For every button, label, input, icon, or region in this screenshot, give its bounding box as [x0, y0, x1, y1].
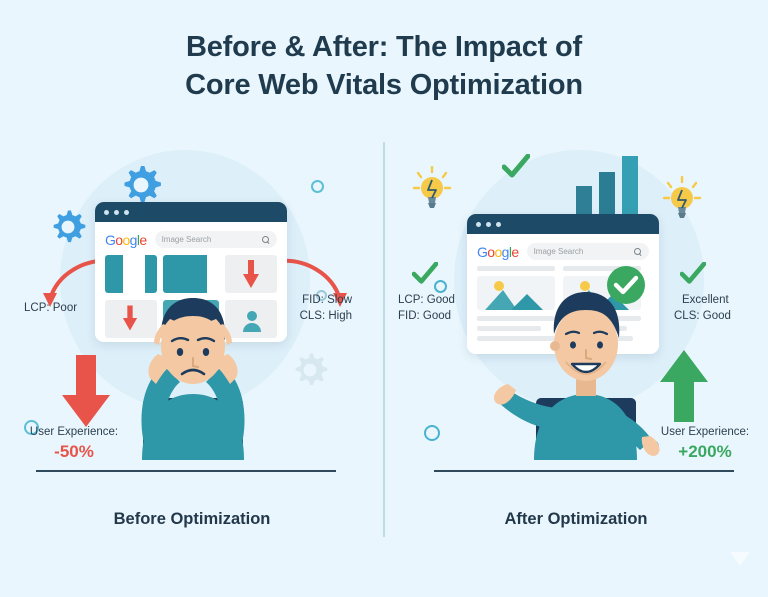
- title-line-2: Core Web Vitals Optimization: [0, 66, 768, 104]
- ground-line: [434, 470, 734, 472]
- metric-labels-fid-cls: FID: Slow CLS: High: [232, 292, 352, 325]
- ux-block-after: User Experience: +200%: [642, 424, 768, 464]
- search-row: Google Image Search: [105, 231, 277, 248]
- metric-labels-lcp-fid: LCP: Good FID: Good: [398, 292, 455, 325]
- gear-icon: [290, 350, 330, 390]
- ux-title: User Experience:: [642, 424, 768, 440]
- excellent-text: Excellent: [674, 292, 731, 308]
- logo-char-g: G: [105, 232, 115, 248]
- window-dot-green: [496, 222, 501, 227]
- ring-decoration: [424, 425, 440, 441]
- lightbulb-icon: [412, 166, 452, 212]
- metric-labels-excellent-cls: Excellent CLS: Good: [674, 292, 731, 325]
- window-dot-yellow: [114, 210, 119, 215]
- window-dot-red: [476, 222, 481, 227]
- corner-triangle-decoration: [730, 552, 750, 566]
- search-placeholder: Image Search: [162, 235, 212, 244]
- check-icon: [502, 154, 530, 180]
- check-icon: [680, 262, 706, 286]
- browser-titlebar: [467, 214, 659, 234]
- infographic-canvas: Before & After: The Impact of Core Web V…: [0, 0, 768, 597]
- logo-char-g: G: [477, 244, 487, 260]
- fid-text: FID: Slow: [232, 292, 352, 308]
- window-dot-yellow: [486, 222, 491, 227]
- before-caption: Before Optimization: [0, 510, 384, 529]
- cls-text: CLS: High: [232, 308, 352, 324]
- ux-title: User Experience:: [14, 424, 134, 440]
- bar-chart-icon: [572, 152, 644, 214]
- google-logo: Google: [105, 232, 147, 248]
- ground-line: [36, 470, 336, 472]
- window-dot-green: [124, 210, 129, 215]
- gear-icon: [48, 207, 88, 247]
- ring-decoration: [311, 180, 324, 193]
- search-icon[interactable]: [262, 236, 270, 244]
- title-line-1: Before & After: The Impact of: [0, 28, 768, 66]
- logo-char-o2: o: [122, 232, 129, 248]
- lcp-text: LCP: Poor: [24, 302, 77, 314]
- cls-text: CLS: Good: [674, 308, 731, 324]
- after-panel: Google Image Search: [384, 140, 768, 560]
- after-caption: After Optimization: [384, 510, 768, 529]
- logo-char-g2: g: [130, 232, 137, 248]
- logo-char-e: e: [139, 232, 146, 248]
- check-icon: [412, 262, 438, 286]
- metric-label-lcp: LCP: Poor: [24, 300, 77, 316]
- search-placeholder: Image Search: [534, 247, 584, 256]
- ux-value: -50%: [14, 440, 134, 464]
- window-dot-red: [104, 210, 109, 215]
- red-down-arrow-icon: [58, 355, 114, 427]
- green-up-arrow-icon: [656, 350, 712, 422]
- search-input[interactable]: Image Search: [155, 231, 277, 248]
- browser-titlebar: [95, 202, 287, 222]
- lcp-text: LCP: Good: [398, 292, 455, 308]
- ux-block-before: User Experience: -50%: [14, 424, 134, 464]
- ux-value: +200%: [642, 440, 768, 464]
- fid-text: FID: Good: [398, 308, 455, 324]
- lightbulb-icon: [662, 176, 702, 222]
- search-icon[interactable]: [634, 248, 642, 256]
- page-title: Before & After: The Impact of Core Web V…: [0, 28, 768, 105]
- before-panel: Google Image Search: [0, 140, 384, 560]
